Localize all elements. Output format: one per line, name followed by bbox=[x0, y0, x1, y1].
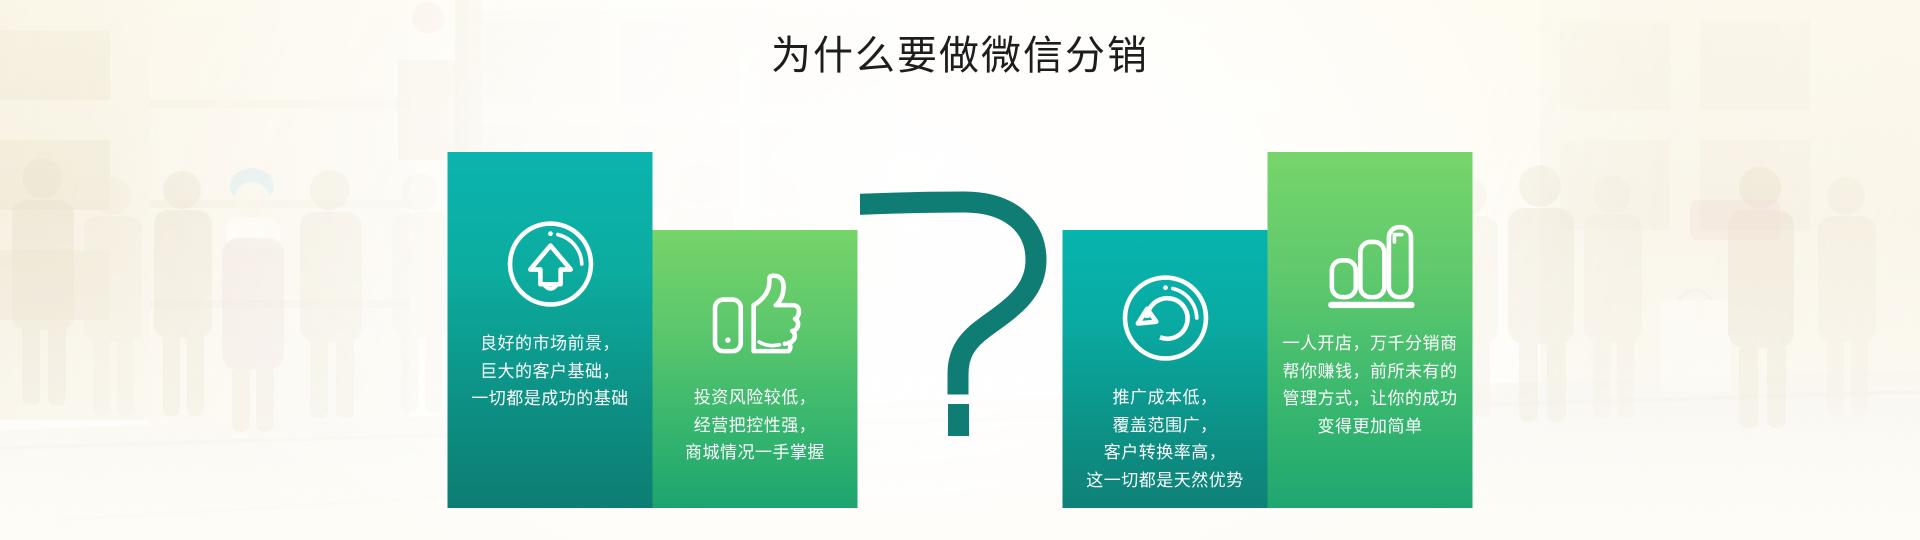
card-easy-success[interactable]: 一人开店，万千分销商帮你赚钱，前所未有的管理方式，让你的成功变得更加简单 bbox=[1268, 152, 1473, 508]
card-text: 良好的市场前景，巨大的客户基础，一切都是成功的基础 bbox=[463, 330, 637, 413]
card-text: 推广成本低，覆盖范围广，客户转换率高，这一切都是天然优势 bbox=[1078, 384, 1252, 494]
card-low-cost[interactable]: 推广成本低，覆盖范围广，客户转换率高，这一切都是天然优势 bbox=[1063, 230, 1268, 508]
promo-banner: 为什么要做微信分销 良好的市场前景，巨大的客户基础，一切都是成功的基础 bbox=[0, 0, 1920, 540]
thumbs-up-icon bbox=[707, 272, 803, 364]
arrow-up-circle-icon bbox=[504, 218, 596, 310]
page-title: 为什么要做微信分销 bbox=[0, 30, 1920, 82]
card-text: 投资风险较低，经营把控性强，商城情况一手掌握 bbox=[677, 384, 833, 467]
bar-chart-icon bbox=[1322, 218, 1418, 310]
card-low-risk[interactable]: 投资风险较低，经营把控性强，商城情况一手掌握 bbox=[653, 230, 858, 508]
card-market-prospect[interactable]: 良好的市场前景，巨大的客户基础，一切都是成功的基础 bbox=[448, 152, 653, 508]
card-text: 一人开店，万千分销商帮你赚钱，前所未有的管理方式，让你的成功变得更加简单 bbox=[1275, 330, 1466, 440]
refresh-circle-icon bbox=[1119, 272, 1211, 364]
